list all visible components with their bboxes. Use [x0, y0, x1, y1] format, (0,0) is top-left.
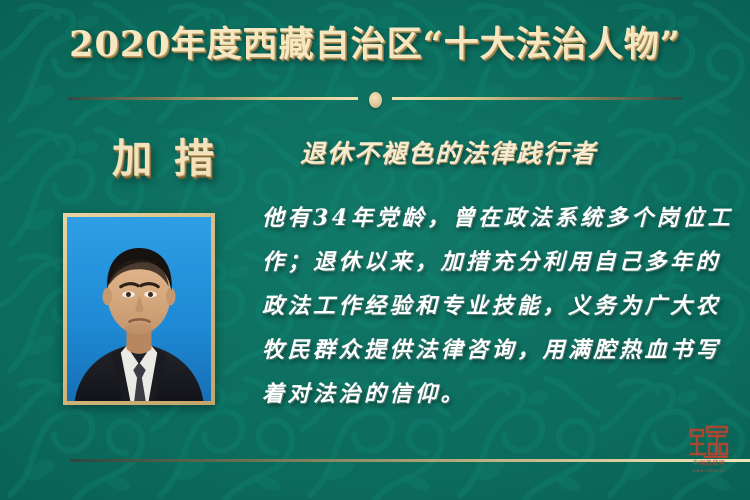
portrait-photo-frame: [63, 213, 215, 405]
poster-title-container: 2020年度西藏自治区“十大法治人物”: [0, 26, 750, 65]
watermark-logo: 中国西藏网 www.tibet.cn: [681, 424, 737, 473]
divider-left-rule: [68, 97, 358, 100]
bottom-gold-rule: [70, 459, 750, 462]
biography-text: 他有34年党龄，曾在政法系统多个岗位工 作；退休以来，加措充分利用自己多年的 政…: [262, 196, 724, 416]
biography-line: 作；退休以来，加措充分利用自己多年的: [262, 240, 724, 284]
watermark-text: 中国西藏网: [681, 460, 737, 468]
biography-line: 政法工作经验和专业技能，义务为广大农: [262, 284, 724, 328]
honoree-subtitle: 退休不褪色的法律践行者: [300, 134, 597, 170]
divider-right-rule: [392, 97, 682, 100]
page-title: 2020年度西藏自治区“十大法治人物”: [69, 26, 681, 65]
biography-line: 他有34年党龄，曾在政法系统多个岗位工: [262, 196, 724, 240]
portrait-photo: [67, 217, 211, 401]
title-divider: [0, 90, 750, 106]
divider-center-ornament-icon: [369, 92, 382, 108]
biography-line: 牧民群众提供法律咨询，用满腔热血书写: [262, 328, 724, 372]
honoree-name: 加措: [58, 126, 268, 184]
biography-line: 着对法治的信仰。: [262, 372, 724, 416]
watermark-subtext: www.tibet.cn: [681, 468, 737, 473]
poster-canvas: 2020年度西藏自治区“十大法治人物” 加措 退休不褪色的法律践行者: [0, 0, 750, 500]
seal-logo-icon: [687, 424, 731, 458]
